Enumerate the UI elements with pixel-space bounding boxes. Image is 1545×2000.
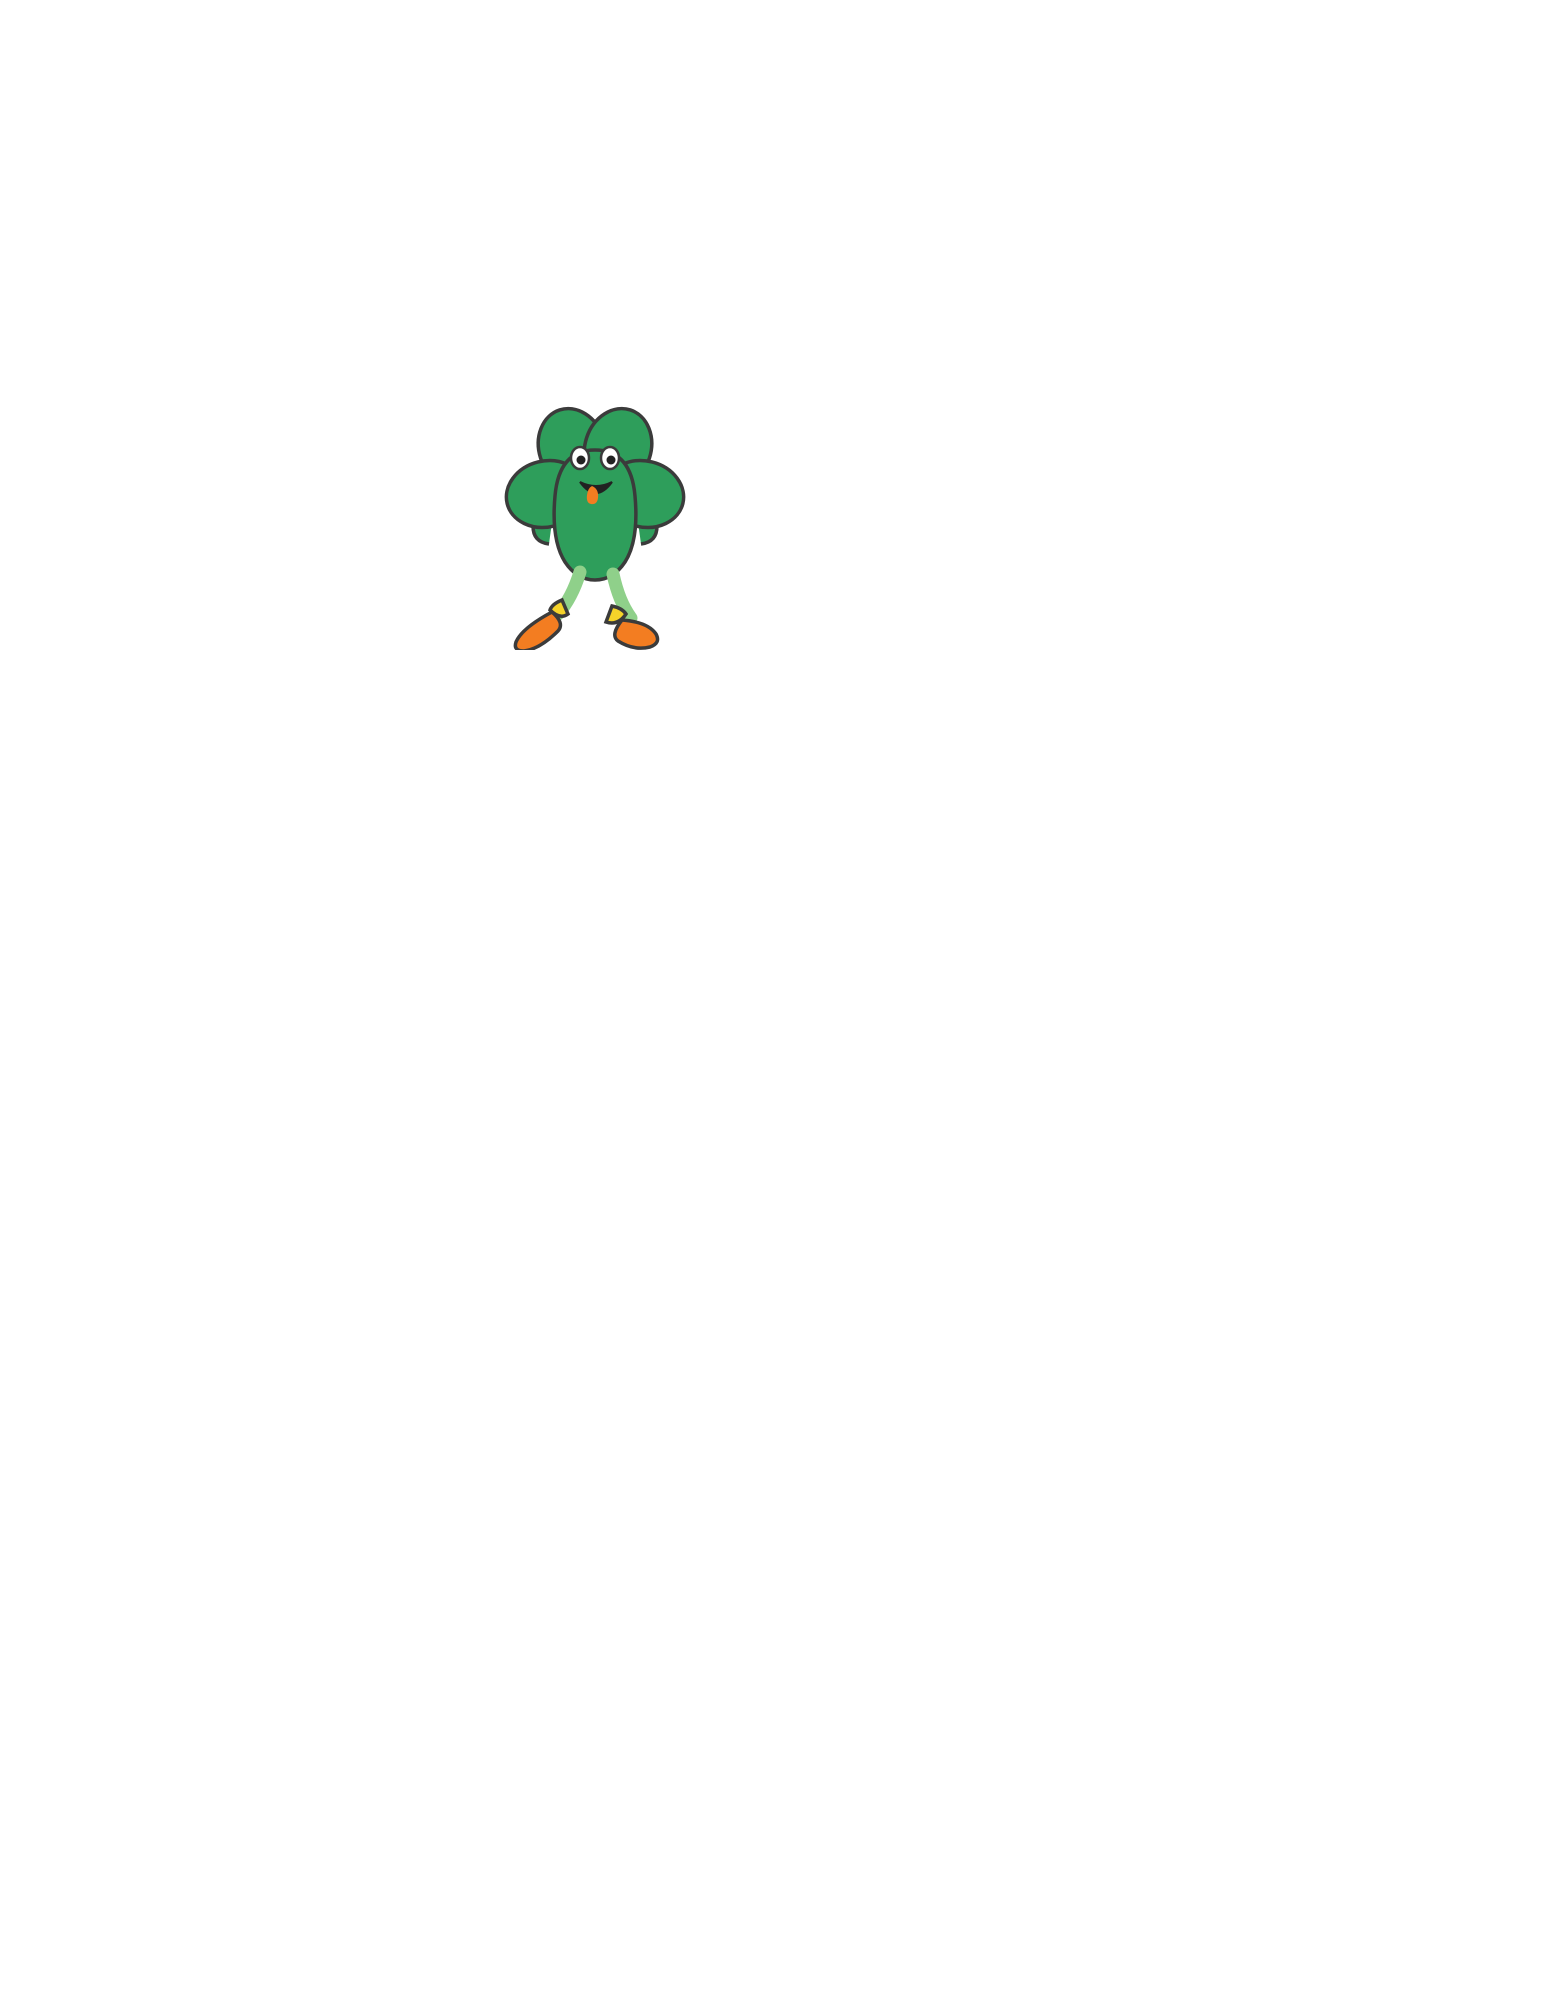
walking-shamrock-mascot-icon [480,390,710,650]
school-name-label [197,393,503,517]
date-chip [104,752,252,888]
event-row[interactable] [104,900,1114,1036]
date-chip [104,604,252,740]
event-bar [265,1196,1114,1332]
event-list [104,604,1114,1492]
event-row[interactable] [104,1196,1114,1332]
event-row[interactable] [104,752,1114,888]
event-row[interactable] [104,1048,1114,1184]
date-chip [104,900,252,1036]
year-label [963,428,1176,481]
event-row[interactable] [104,1344,1114,1480]
date-chip [104,1048,252,1184]
event-bar [265,900,1114,1036]
march-calendar-poster [0,0,1545,2000]
clover-confetti-bottom-border [0,1600,1545,2000]
event-bar [265,1048,1114,1184]
event-bar [265,752,1114,888]
date-chip [104,1196,252,1332]
date-chip [104,1344,252,1480]
event-bar [265,1344,1114,1480]
clover-cluster-top-border [0,0,1545,560]
